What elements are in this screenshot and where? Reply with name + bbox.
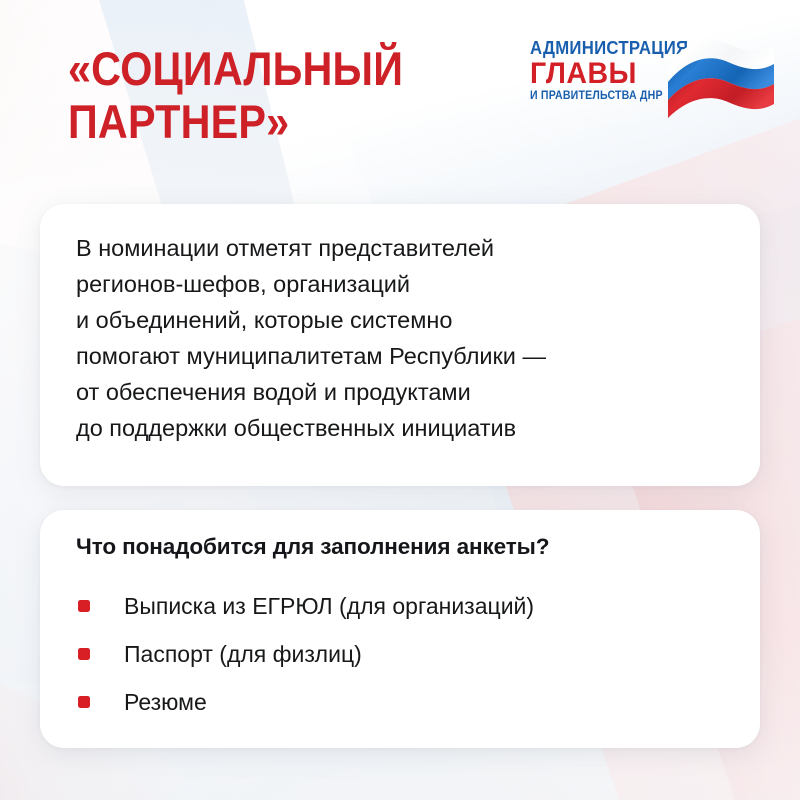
list-item: Выписка из ЕГРЮЛ (для организаций) (76, 582, 726, 630)
russian-flag-wave-icon (666, 34, 778, 134)
documents-list: Выписка из ЕГРЮЛ (для организаций) Паспо… (76, 582, 726, 726)
list-item-label: Резюме (124, 688, 207, 716)
list-item: Паспорт (для физлиц) (76, 630, 726, 678)
square-bullet-icon (78, 648, 90, 660)
poster-root: «СОЦИАЛЬНЫЙ ПАРТНЕР» АДМИНИСТРАЦИЯ ГЛАВЫ… (0, 0, 800, 800)
documents-card-heading: Что понадобится для заполнения анкеты? (76, 532, 549, 562)
poster-header: «СОЦИАЛЬНЫЙ ПАРТНЕР» АДМИНИСТРАЦИЯ ГЛАВЫ… (0, 0, 800, 200)
square-bullet-icon (78, 600, 90, 612)
page-title: «СОЦИАЛЬНЫЙ ПАРТНЕР» (68, 42, 455, 148)
list-item-label: Паспорт (для физлиц) (124, 640, 362, 668)
square-bullet-icon (78, 696, 90, 708)
list-item-label: Выписка из ЕГРЮЛ (для организаций) (124, 592, 534, 620)
documents-card: Что понадобится для заполнения анкеты? В… (40, 510, 760, 748)
list-item: Резюме (76, 678, 726, 726)
organization-logo: АДМИНИСТРАЦИЯ ГЛАВЫ И ПРАВИТЕЛЬСТВА ДНР (528, 32, 778, 136)
about-card: В номинации отметят представителей регио… (40, 204, 760, 486)
about-card-text: В номинации отметят представителей регио… (76, 230, 736, 446)
